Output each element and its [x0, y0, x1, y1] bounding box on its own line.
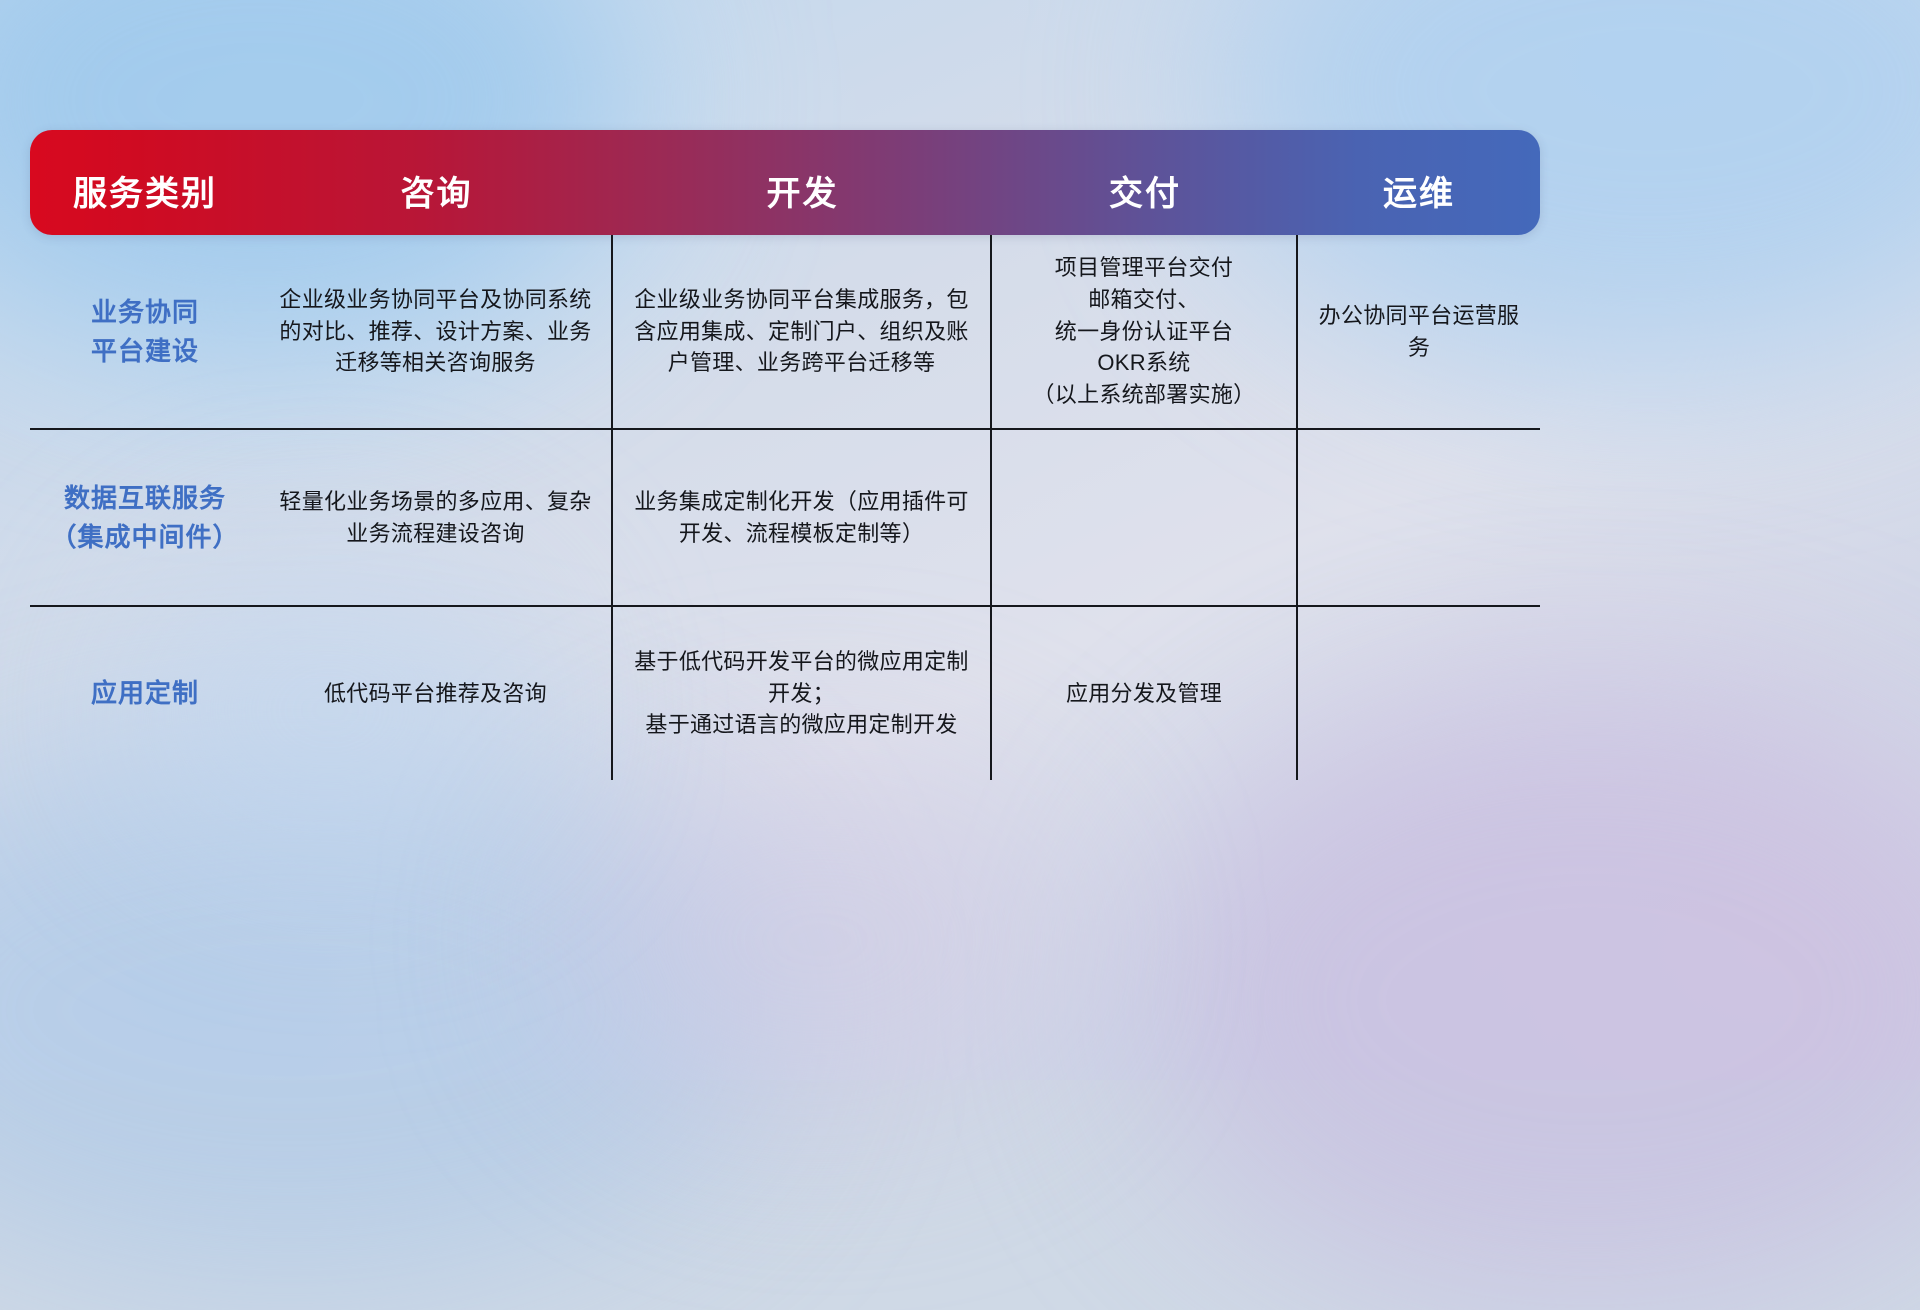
cell-consulting-2: 低代码平台推荐及咨询 [260, 607, 613, 780]
cell-operations-1 [1298, 430, 1540, 605]
cell-delivery-0: 项目管理平台交付 邮箱交付、 统一身份认证平台 OKR系统 （以上系统部署实施） [992, 235, 1298, 428]
column-header-development: 开发 [613, 130, 992, 235]
cell-category-0: 业务协同 平台建设 [30, 235, 260, 428]
column-header-operations: 运维 [1298, 130, 1540, 235]
cell-consulting-0: 企业级业务协同平台及协同系统的对比、推荐、设计方案、业务迁移等相关咨询服务 [260, 235, 613, 428]
cell-category-1: 数据互联服务 （集成中间件） [30, 430, 260, 605]
table-row: 业务协同 平台建设 企业级业务协同平台及协同系统的对比、推荐、设计方案、业务迁移… [30, 235, 1540, 430]
cell-development-1: 业务集成定制化开发（应用插件可开发、流程模板定制等） [613, 430, 992, 605]
column-header-consulting: 咨询 [260, 130, 613, 235]
table-header-row: 服务类别 咨询 开发 交付 运维 [30, 130, 1540, 235]
cell-consulting-1: 轻量化业务场景的多应用、复杂业务流程建设咨询 [260, 430, 613, 605]
cell-category-2: 应用定制 [30, 607, 260, 780]
column-header-delivery: 交付 [992, 130, 1298, 235]
cell-development-2: 基于低代码开发平台的微应用定制开发； 基于通过语言的微应用定制开发 [613, 607, 992, 780]
services-matrix-table: 服务类别 咨询 开发 交付 运维 业务协同 平台建设 企业级业务协同平台及协同系… [30, 108, 1540, 780]
cell-operations-2 [1298, 607, 1540, 780]
table-row: 应用定制 低代码平台推荐及咨询 基于低代码开发平台的微应用定制开发； 基于通过语… [30, 607, 1540, 780]
cell-development-0: 企业级业务协同平台集成服务，包含应用集成、定制门户、组织及账户管理、业务跨平台迁… [613, 235, 992, 428]
cell-operations-0: 办公协同平台运营服务 [1298, 235, 1540, 428]
background-blob-center [560, 760, 1080, 1120]
cell-delivery-2: 应用分发及管理 [992, 607, 1298, 780]
table-row: 数据互联服务 （集成中间件） 轻量化业务场景的多应用、复杂业务流程建设咨询 业务… [30, 430, 1540, 607]
table-body: 业务协同 平台建设 企业级业务协同平台及协同系统的对比、推荐、设计方案、业务迁移… [30, 235, 1540, 780]
cell-delivery-1 [992, 430, 1298, 605]
column-header-category: 服务类别 [30, 130, 260, 235]
